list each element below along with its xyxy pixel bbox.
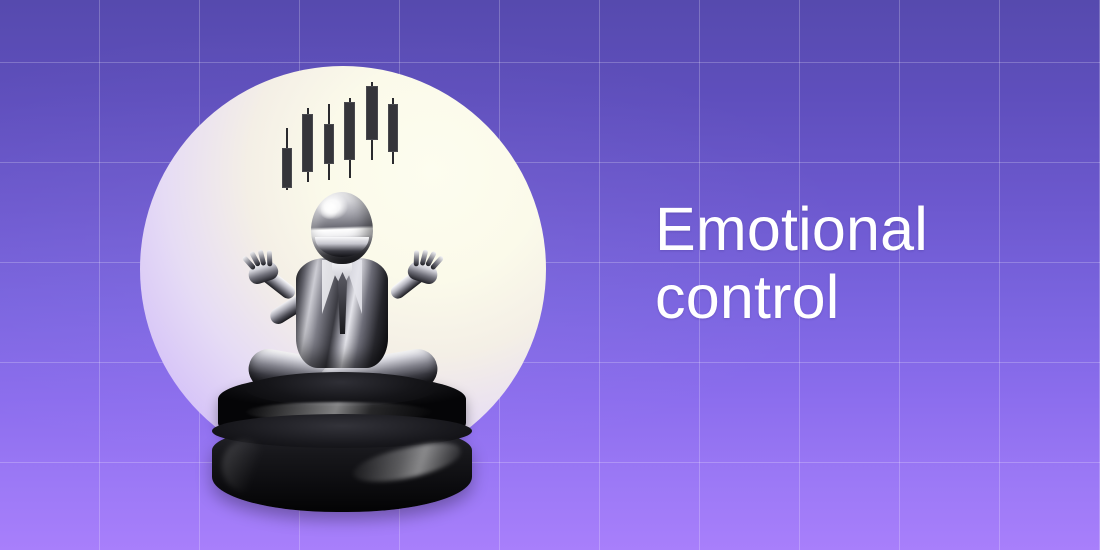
headline-line-2: control: [655, 263, 1055, 331]
pedestal-seat-face: [246, 372, 436, 406]
pedestal-left-gloss: [222, 440, 268, 492]
banner: Emotional control: [0, 0, 1100, 550]
headline-line-1: Emotional: [655, 195, 1055, 263]
page-title: Emotional control: [655, 195, 1055, 332]
illustration: [0, 0, 620, 550]
pedestal: [0, 0, 620, 550]
